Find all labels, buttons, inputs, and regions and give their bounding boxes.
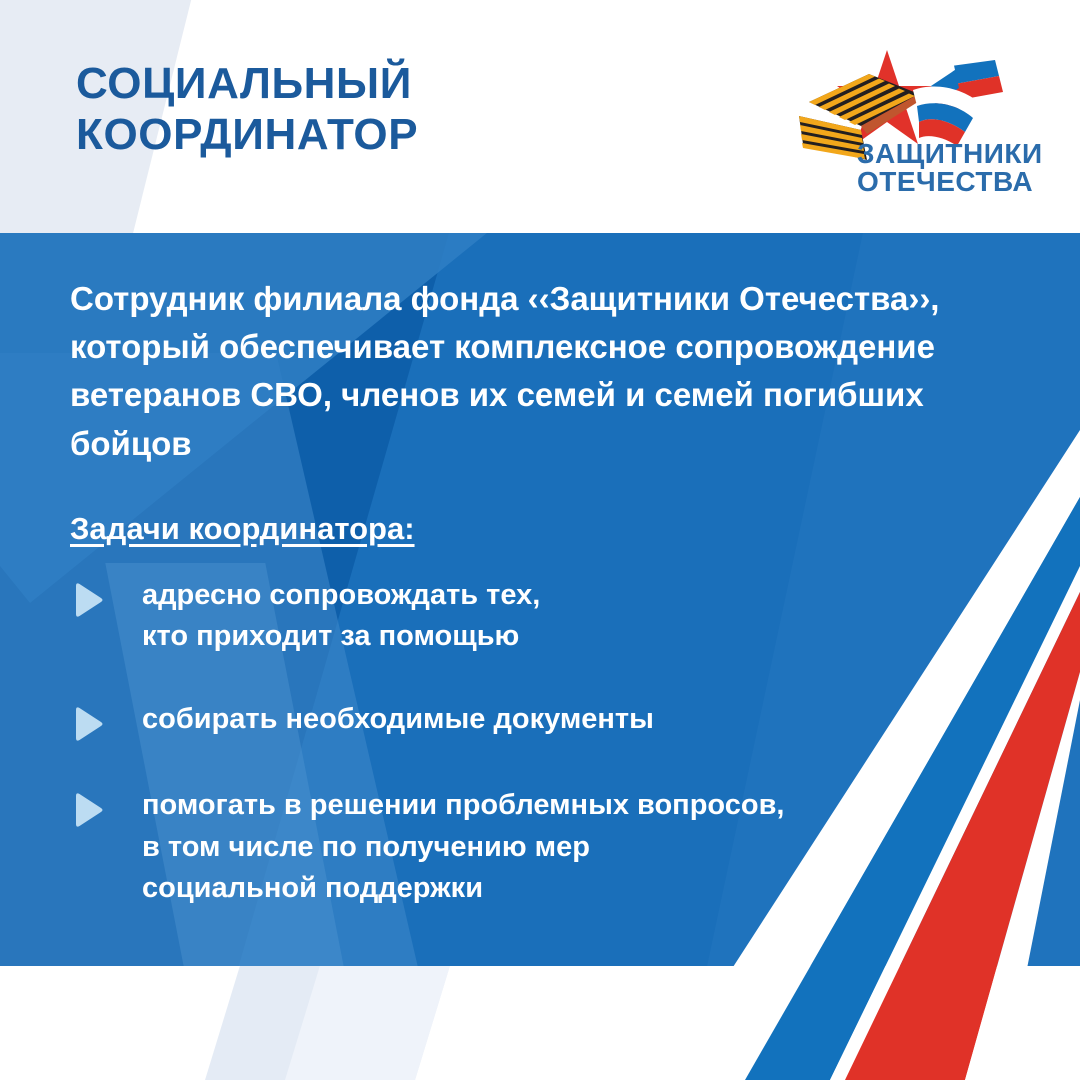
- list-item-label: собирать необходимые документы: [142, 699, 654, 740]
- list-item: адресно сопровождать тех, кто приходит з…: [70, 575, 970, 657]
- logo-line-1: ЗАЩИТНИКИ: [857, 138, 1043, 169]
- list-item-label: помогать в решении проблемных вопросов, …: [142, 785, 784, 909]
- fund-logo: ЗАЩИТНИКИ ОТЕЧЕСТВА: [795, 38, 1053, 198]
- logo-line-2: ОТЕЧЕСТВА: [857, 166, 1033, 197]
- main-panel: Сотрудник филиала фонда ‹‹Защитники Отеч…: [0, 233, 1080, 967]
- list-item: помогать в решении проблемных вопросов, …: [70, 785, 970, 909]
- tasks-list: адресно сопровождать тех, кто приходит з…: [70, 575, 970, 951]
- list-item: собирать необходимые документы: [70, 699, 970, 743]
- page-title: СОЦИАЛЬНЫЙ КООРДИНАТОР: [76, 58, 596, 161]
- triangle-bullet-icon: [70, 791, 106, 829]
- panel-content: Сотрудник филиала фонда ‹‹Защитники Отеч…: [0, 233, 1080, 967]
- russian-tricolor-ribbon-icon: [913, 42, 1003, 146]
- list-item-label: адресно сопровождать тех, кто приходит з…: [142, 575, 540, 657]
- footer-band: [0, 966, 1080, 1080]
- triangle-bullet-icon: [70, 705, 106, 743]
- poster-canvas: СОЦИАЛЬНЫЙ КООРДИНАТОР: [0, 0, 1080, 1080]
- triangle-bullet-icon: [70, 581, 106, 619]
- description-paragraph: Сотрудник филиала фонда ‹‹Защитники Отеч…: [70, 275, 1030, 468]
- tasks-heading: Задачи координатора:: [70, 511, 415, 547]
